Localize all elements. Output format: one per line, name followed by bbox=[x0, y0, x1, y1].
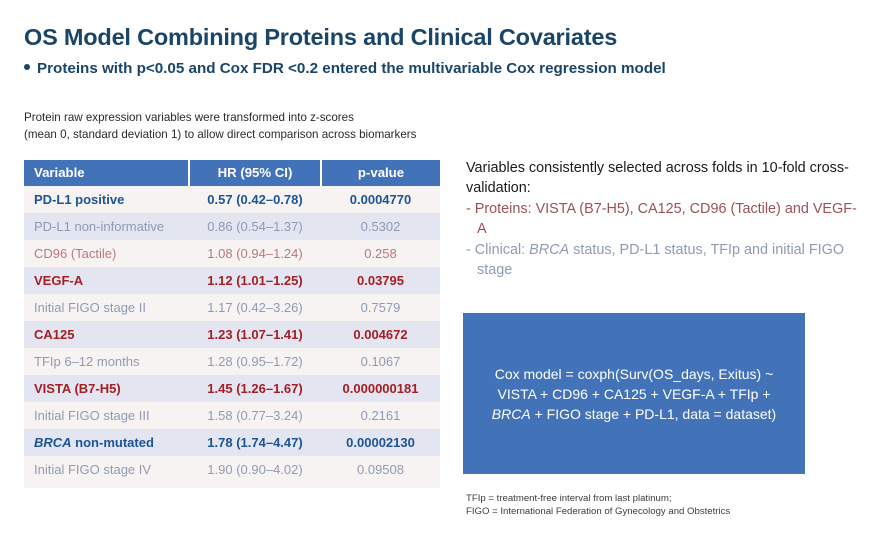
cell-variable: PD-L1 positive bbox=[24, 186, 189, 213]
cv-clinical-gene: BRCA bbox=[529, 242, 569, 258]
table-body: PD-L1 positive0.57 (0.42–0.78)0.0004770P… bbox=[24, 186, 440, 483]
cell-hazard-ratio: 1.45 (1.26–1.67) bbox=[189, 375, 321, 402]
cell-variable: Initial FIGO stage II bbox=[24, 294, 189, 321]
cv-bullet-proteins: - Proteins: VISTA (B7-H5), CA125, CD96 (… bbox=[466, 199, 866, 239]
cell-p-value: 0.1067 bbox=[321, 348, 440, 375]
table-row: Initial FIGO stage III1.58 (0.77–3.24)0.… bbox=[24, 402, 440, 429]
results-table: Variable HR (95% CI) p-value PD-L1 posit… bbox=[24, 160, 440, 483]
formula-line-1: Cox model = coxph(Surv(OS_days, Exitus) … bbox=[495, 366, 774, 382]
cell-p-value: 0.000000181 bbox=[321, 375, 440, 402]
cell-variable: CA125 bbox=[24, 321, 189, 348]
cell-hazard-ratio: 1.08 (0.94–1.24) bbox=[189, 240, 321, 267]
cell-hazard-ratio: 0.86 (0.54–1.37) bbox=[189, 213, 321, 240]
table-row: Initial FIGO stage II1.17 (0.42–3.26)0.7… bbox=[24, 294, 440, 321]
cell-hazard-ratio: 1.58 (0.77–3.24) bbox=[189, 402, 321, 429]
cv-bullet-clinical: - Clinical: BRCA status, PD-L1 status, T… bbox=[466, 240, 866, 280]
cell-hazard-ratio: 1.23 (1.07–1.41) bbox=[189, 321, 321, 348]
footnotes: TFIp = treatment-free interval from last… bbox=[466, 492, 730, 518]
column-header-variable: Variable bbox=[24, 160, 189, 186]
table-row: CA1251.23 (1.07–1.41)0.004672 bbox=[24, 321, 440, 348]
table-bottom-strip bbox=[24, 479, 440, 488]
cell-variable: PD-L1 non-informative bbox=[24, 213, 189, 240]
table-row: PD-L1 non-informative0.86 (0.54–1.37)0.5… bbox=[24, 213, 440, 240]
cross-validation-panel: Variables consistently selected across f… bbox=[466, 158, 866, 280]
cell-variable: VISTA (B7-H5) bbox=[24, 375, 189, 402]
page-title: OS Model Combining Proteins and Clinical… bbox=[24, 24, 617, 51]
cell-hazard-ratio: 1.12 (1.01–1.25) bbox=[189, 267, 321, 294]
zscore-note-line-1: Protein raw expression variables were tr… bbox=[24, 109, 416, 126]
cell-variable: BRCA non-mutated bbox=[24, 429, 189, 456]
gene-name: BRCA bbox=[34, 435, 72, 450]
cell-hazard-ratio: 1.17 (0.42–3.26) bbox=[189, 294, 321, 321]
cell-p-value: 0.00002130 bbox=[321, 429, 440, 456]
column-header-hr: HR (95% CI) bbox=[189, 160, 321, 186]
cell-variable: Initial FIGO stage III bbox=[24, 402, 189, 429]
table-row: PD-L1 positive0.57 (0.42–0.78)0.0004770 bbox=[24, 186, 440, 213]
cell-p-value: 0.258 bbox=[321, 240, 440, 267]
footnote-figo: FIGO = International Federation of Gynec… bbox=[466, 505, 730, 518]
bullet-dot-icon bbox=[24, 64, 30, 70]
cox-model-formula-box: Cox model = coxph(Surv(OS_days, Exitus) … bbox=[463, 313, 805, 474]
cell-p-value: 0.03795 bbox=[321, 267, 440, 294]
formula-line-3-gene: BRCA bbox=[492, 406, 531, 422]
table-row: BRCA non-mutated1.78 (1.74–4.47)0.000021… bbox=[24, 429, 440, 456]
footnote-tfip: TFIp = treatment-free interval from last… bbox=[466, 492, 730, 505]
cell-variable: TFIp 6–12 months bbox=[24, 348, 189, 375]
zscore-note: Protein raw expression variables were tr… bbox=[24, 109, 416, 143]
table-row: CD96 (Tactile)1.08 (0.94–1.24)0.258 bbox=[24, 240, 440, 267]
intro-bullet-text: Proteins with p<0.05 and Cox FDR <0.2 en… bbox=[37, 60, 666, 77]
cell-variable: CD96 (Tactile) bbox=[24, 240, 189, 267]
cell-p-value: 0.004672 bbox=[321, 321, 440, 348]
cell-hazard-ratio: 1.28 (0.95–1.72) bbox=[189, 348, 321, 375]
cell-p-value: 0.5302 bbox=[321, 213, 440, 240]
formula-line-3-rest: + FIGO stage + PD-L1, data = dataset) bbox=[531, 406, 777, 422]
cell-variable: VEGF-A bbox=[24, 267, 189, 294]
cell-hazard-ratio: 1.78 (1.74–4.47) bbox=[189, 429, 321, 456]
cell-p-value: 0.2161 bbox=[321, 402, 440, 429]
intro-bullet: Proteins with p<0.05 and Cox FDR <0.2 en… bbox=[24, 60, 666, 77]
cell-hazard-ratio: 0.57 (0.42–0.78) bbox=[189, 186, 321, 213]
formula-line-2: VISTA + CD96 + CA125 + VEGF-A + TFIp + bbox=[498, 386, 771, 402]
zscore-note-line-2: (mean 0, standard deviation 1) to allow … bbox=[24, 126, 416, 143]
column-header-pvalue: p-value bbox=[321, 160, 440, 186]
cv-clinical-pre: - Clinical: bbox=[466, 242, 529, 258]
table-header-row: Variable HR (95% CI) p-value bbox=[24, 160, 440, 186]
cell-p-value: 0.7579 bbox=[321, 294, 440, 321]
cox-model-formula-text: Cox model = coxph(Surv(OS_days, Exitus) … bbox=[484, 364, 784, 424]
table-row: VEGF-A1.12 (1.01–1.25)0.03795 bbox=[24, 267, 440, 294]
table-row: VISTA (B7-H5)1.45 (1.26–1.67)0.000000181 bbox=[24, 375, 440, 402]
table-row: TFIp 6–12 months1.28 (0.95–1.72)0.1067 bbox=[24, 348, 440, 375]
cell-p-value: 0.0004770 bbox=[321, 186, 440, 213]
cv-heading: Variables consistently selected across f… bbox=[466, 158, 866, 198]
